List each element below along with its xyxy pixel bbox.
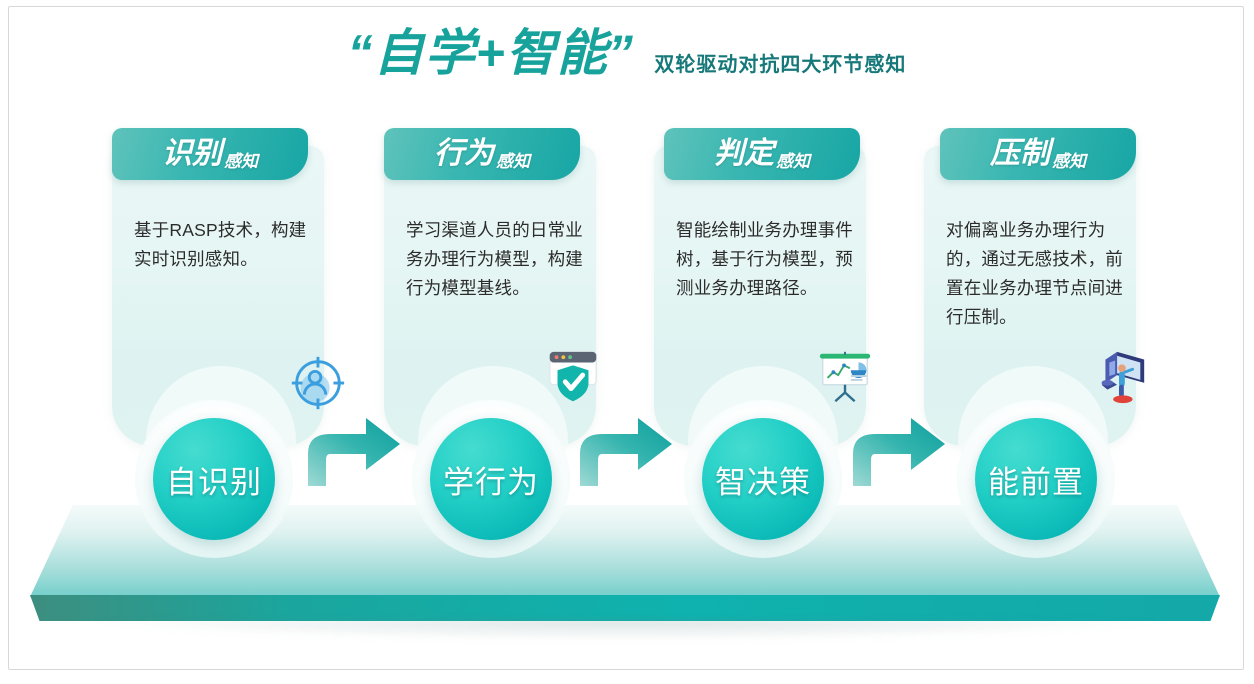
card-header-badge: 压制 感知 [940, 128, 1136, 180]
person-monitor-isometric-icon [1088, 346, 1150, 408]
node-label: 能前置 [988, 457, 1084, 502]
page-title: “自学+智能” [348, 28, 634, 78]
browser-shield-check-icon [542, 346, 604, 408]
card-header-sub: 感知 [1052, 147, 1086, 172]
card-header-badge: 行为 感知 [384, 128, 580, 180]
node-smart-decision[interactable]: 智决策 [702, 418, 824, 540]
card-header-main: 压制 [990, 139, 1050, 169]
card-header-sub: 感知 [496, 147, 530, 172]
platform-shadow [90, 619, 1161, 641]
node-label: 自识别 [166, 457, 262, 502]
node-capable-preposition[interactable]: 能前置 [975, 418, 1097, 540]
node-learn-behavior[interactable]: 学行为 [430, 418, 552, 540]
arrow-2-to-3 [572, 408, 676, 486]
card-header-badge: 识别 感知 [112, 128, 308, 180]
page-subtitle: 双轮驱动对抗四大环节感知 [654, 48, 906, 77]
card-description: 基于RASP技术，构建实时识别感知。 [134, 216, 320, 274]
card-header-sub: 感知 [224, 147, 258, 172]
arrow-3-to-4 [845, 408, 949, 486]
node-circle: 学行为 [430, 418, 552, 540]
infographic-slide: “自学+智能” 双轮驱动对抗四大环节感知 基于RASP技术，构建实时识别感知。 … [0, 0, 1254, 684]
person-target-icon [286, 353, 348, 415]
node-self-identify[interactable]: 自识别 [153, 418, 275, 540]
presentation-chart-icon [814, 346, 876, 408]
card-header-sub: 感知 [776, 147, 810, 172]
card-header-main: 判定 [714, 139, 774, 169]
node-circle: 智决策 [702, 418, 824, 540]
node-label: 智决策 [715, 457, 811, 502]
card-description: 智能绘制业务办理事件树，基于行为模型，预测业务办理路径。 [676, 216, 862, 303]
arrow-1-to-2 [300, 408, 404, 486]
node-circle: 能前置 [975, 418, 1097, 540]
card-description: 对偏离业务办理行为的，通过无感技术，前置在业务办理节点间进行压制。 [946, 216, 1132, 332]
node-circle: 自识别 [153, 418, 275, 540]
card-description: 学习渠道人员的日常业务办理行为模型，构建行为模型基线。 [406, 216, 592, 303]
title-block: “自学+智能” 双轮驱动对抗四大环节感知 [0, 28, 1254, 78]
card-header-main: 行为 [434, 139, 494, 169]
node-label: 学行为 [443, 457, 539, 502]
card-header-main: 识别 [162, 139, 222, 169]
card-header-badge: 判定 感知 [664, 128, 860, 180]
platform-front-edge [30, 595, 1220, 621]
